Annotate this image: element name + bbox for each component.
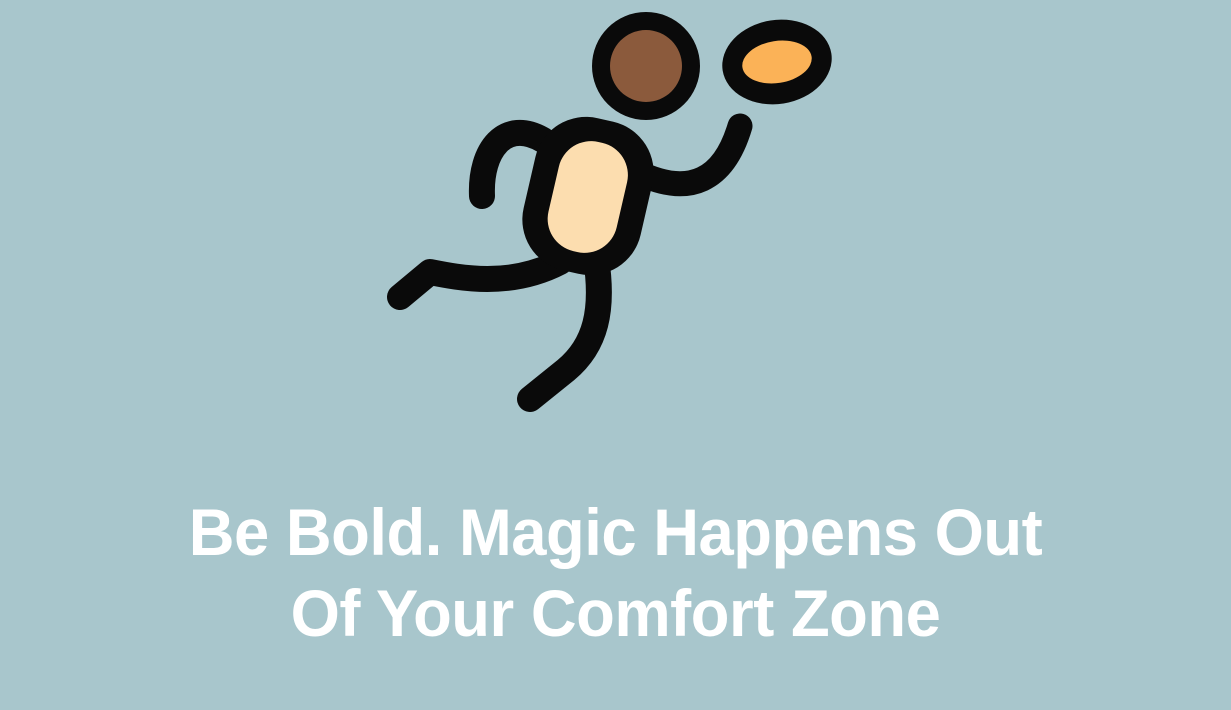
poster-canvas: Be Bold. Magic Happens Out Of Your Comfo… — [0, 0, 1231, 710]
head-fill — [610, 30, 682, 102]
head — [592, 12, 700, 120]
caption-line-2: Of Your Comfort Zone — [25, 573, 1207, 654]
caption-line-1: Be Bold. Magic Happens Out — [25, 492, 1207, 573]
caption-text: Be Bold. Magic Happens Out Of Your Comfo… — [0, 492, 1231, 654]
